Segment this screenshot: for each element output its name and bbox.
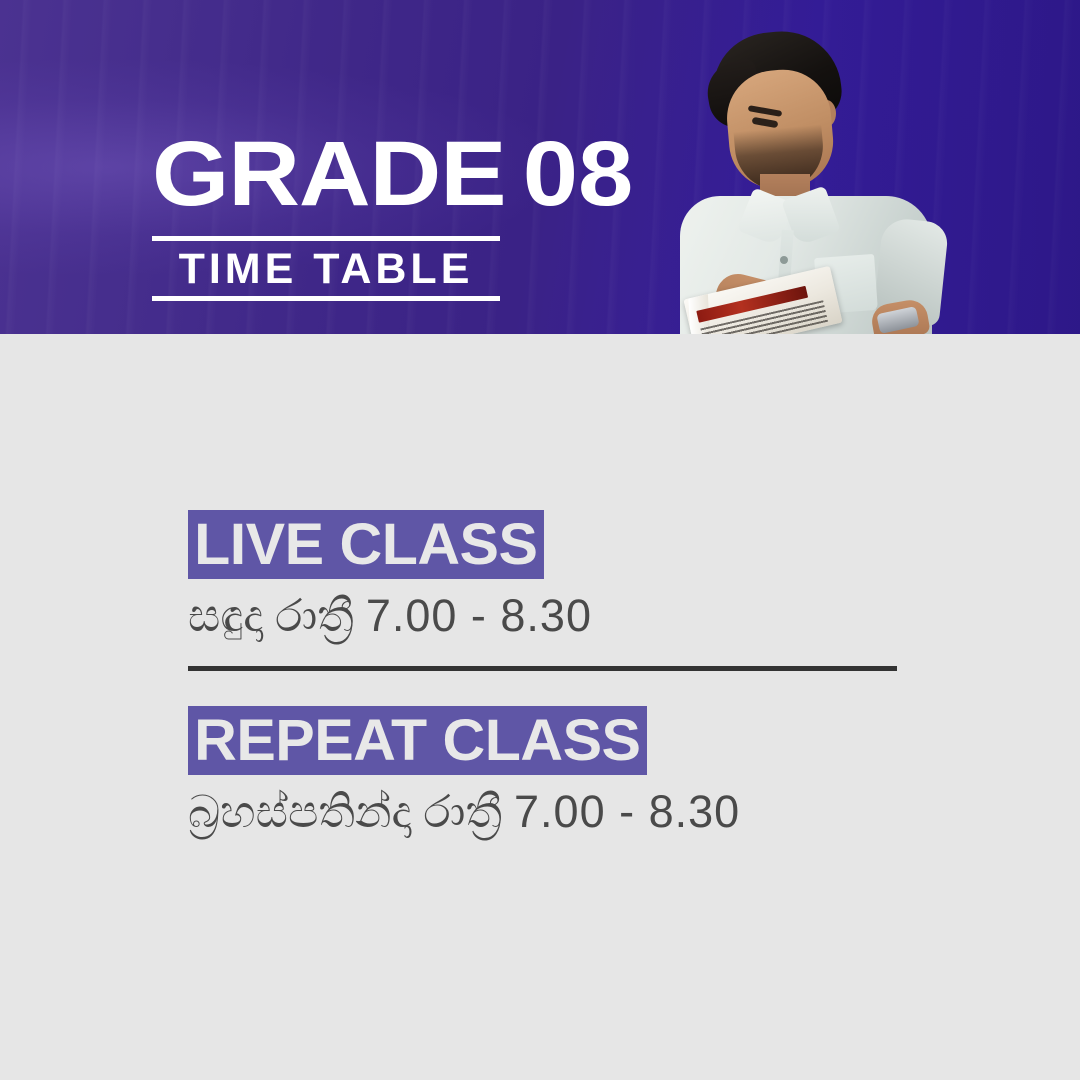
student-photo [602, 24, 962, 334]
repeat-class-block: REPEAT CLASS බ්‍රහස්පතින්දාරාත්‍රී7.00 -… [188, 706, 740, 841]
live-class-block: LIVE CLASS සඳුදාරාත්‍රී7.00 - 8.30 [188, 510, 592, 645]
section-divider [188, 666, 897, 671]
repeat-class-time: බ්‍රහස්පතින්දාරාත්‍රී7.00 - 8.30 [188, 783, 740, 841]
live-class-badge: LIVE CLASS [188, 510, 544, 579]
page-subtitle: TIME TABLE [152, 246, 500, 292]
live-class-time: සඳුදාරාත්‍රී7.00 - 8.30 [188, 587, 592, 645]
live-class-hours: 7.00 - 8.30 [366, 590, 592, 641]
title-block: GRADE08 TIME TABLE [152, 126, 598, 301]
live-class-day: සඳුදා [188, 590, 263, 641]
repeat-class-period: රාත්‍රී [423, 786, 502, 837]
page-title: GRADE08 [152, 126, 633, 222]
live-class-period: රාත්‍රී [275, 590, 354, 641]
header-banner: GRADE08 TIME TABLE [0, 0, 1080, 334]
repeat-class-badge: REPEAT CLASS [188, 706, 647, 775]
subtitle-rule-box: TIME TABLE [152, 236, 500, 301]
shirt-button-shape [780, 256, 788, 264]
grade-label: GRADE [152, 123, 505, 225]
repeat-class-day: බ්‍රහස්පතින්දා [188, 786, 411, 837]
repeat-class-hours: 7.00 - 8.30 [514, 786, 740, 837]
schedule-content: LIVE CLASS සඳුදාරාත්‍රී7.00 - 8.30 REPEA… [0, 334, 1080, 1080]
grade-number: 08 [523, 123, 634, 225]
